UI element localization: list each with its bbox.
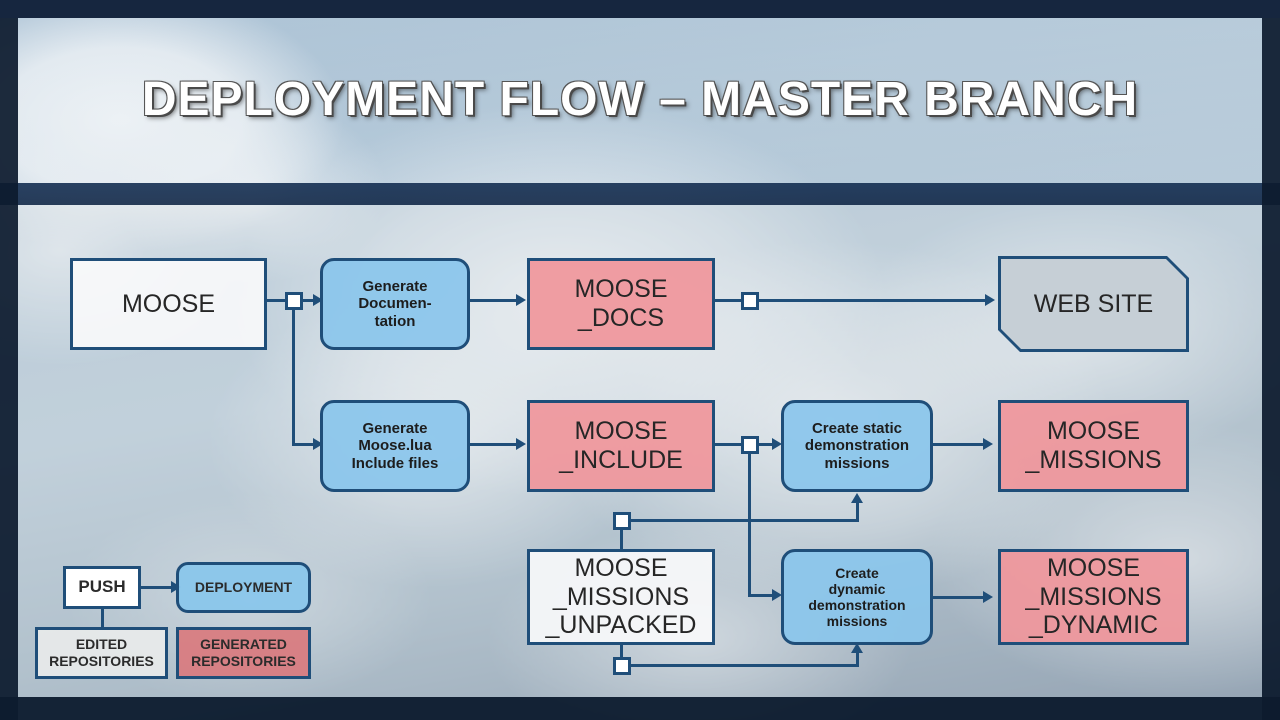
create-dynamic-line-2: dynamic [829,581,886,597]
edge-junction4-down-to-unpacked [620,530,623,550]
edge-generate-docs-to-moose-docs [470,299,518,302]
arrow-to-moose-docs [516,294,526,306]
legend-deployment[interactable]: DEPLOYMENT [176,562,311,613]
missions-dynamic-line-1: MOOSE [1047,554,1140,583]
generate-docs-line-2: Documen- [358,295,431,312]
edge-create-static-to-moose-missions [933,443,985,446]
create-dynamic-line-4: missions [827,613,888,629]
edge-junction4-right [631,519,859,522]
arrow-to-web-site [985,294,995,306]
create-static-line-1: Create static [812,420,902,437]
legend-edited-line-1: EDITED [76,636,127,653]
legend-generated-repositories[interactable]: GENERATED REPOSITORIES [176,627,311,679]
unpacked-line-3: _UNPACKED [546,611,697,640]
create-dynamic-line-3: demonstration [808,597,905,613]
node-moose-label: MOOSE [122,290,215,319]
arrow-to-moose-include [516,438,526,450]
edge-generate-include-to-moose-include [470,443,518,446]
edge-junction3-down [748,454,751,596]
legend-push[interactable]: PUSH [63,566,141,609]
push-junction-5[interactable] [613,657,631,675]
arrow-to-moose-missions [983,438,993,450]
node-moose-missions[interactable]: MOOSE _MISSIONS [998,400,1189,492]
push-junction-2[interactable] [741,292,759,310]
missions-dynamic-line-2: _MISSIONS [1025,583,1161,612]
left-frame-band [0,18,18,720]
push-junction-4[interactable] [613,512,631,530]
web-site-label: WEB SITE [1034,290,1153,319]
unpacked-line-2: _MISSIONS [553,583,689,612]
moose-docs-line-2: _DOCS [578,304,664,333]
legend-generated-line-2: REPOSITORIES [191,653,296,670]
legend-edited-line-2: REPOSITORIES [49,653,154,670]
moose-include-line-1: MOOSE [574,417,667,446]
node-moose-docs[interactable]: MOOSE _DOCS [527,258,715,350]
moose-include-line-2: _INCLUDE [559,446,683,475]
edge-moose-docs-to-junction [715,299,743,302]
legend-push-label: PUSH [78,577,125,597]
generate-docs-line-1: Generate [362,278,427,295]
node-create-dynamic-missions[interactable]: Create dynamic demonstration missions [781,549,933,645]
edge-junction5-right [631,664,859,667]
node-moose-include[interactable]: MOOSE _INCLUDE [527,400,715,492]
right-frame-band [1262,18,1280,720]
arrow-to-missions-dynamic [983,591,993,603]
edge-moose-to-junction [267,299,287,302]
edge-junction4-up-to-create-static [856,503,859,521]
web-site-body: WEB SITE [1001,259,1186,349]
slide: DEPLOYMENT FLOW – MASTER BRANCH MOOSE Ge… [0,0,1280,720]
edge-create-dynamic-to-missions-dynamic [933,596,985,599]
edge-junction3-to-create-dynamic [748,594,774,597]
node-generate-documentation[interactable]: Generate Documen- tation [320,258,470,350]
legend-edge-push-down [101,609,104,627]
edge-junction5-up-to-create-dynamic [856,653,859,666]
create-dynamic-line-1: Create [835,565,879,581]
moose-missions-line-2: _MISSIONS [1025,446,1161,475]
page-title: DEPLOYMENT FLOW – MASTER BRANCH [0,72,1280,127]
push-junction-1[interactable] [285,292,303,310]
node-create-static-missions[interactable]: Create static demonstration missions [781,400,933,492]
edge-junction-down [292,310,295,445]
legend-edited-repositories[interactable]: EDITED REPOSITORIES [35,627,168,679]
node-generate-include[interactable]: Generate Moose.lua Include files [320,400,470,492]
moose-missions-line-1: MOOSE [1047,417,1140,446]
header-divider-band [0,183,1280,205]
bottom-frame-band [0,697,1280,720]
generate-include-line-1: Generate [362,420,427,437]
unpacked-line-1: MOOSE [574,554,667,583]
node-moose-missions-unpacked[interactable]: MOOSE _MISSIONS _UNPACKED [527,549,715,645]
legend-edge-push-to-deployment [141,586,173,589]
create-static-line-3: missions [824,455,889,472]
edge-junction-to-generate-include [292,443,315,446]
generate-include-line-3: Include files [352,455,439,472]
edge-moose-include-to-junction [715,443,743,446]
node-moose[interactable]: MOOSE [70,258,267,350]
node-web-site[interactable]: WEB SITE [998,256,1189,352]
generate-include-line-2: Moose.lua [358,437,431,454]
generate-docs-line-3: tation [375,313,416,330]
create-static-line-2: demonstration [805,437,909,454]
top-frame-band [0,0,1280,18]
node-moose-missions-dynamic[interactable]: MOOSE _MISSIONS _DYNAMIC [998,549,1189,645]
legend-deployment-label: DEPLOYMENT [195,579,292,596]
moose-docs-line-1: MOOSE [574,275,667,304]
legend-generated-line-1: GENERATED [200,636,287,653]
arrow-up-to-create-static [851,493,863,503]
push-junction-3[interactable] [741,436,759,454]
missions-dynamic-line-3: _DYNAMIC [1029,611,1158,640]
edge-junction-to-web-site [759,299,987,302]
